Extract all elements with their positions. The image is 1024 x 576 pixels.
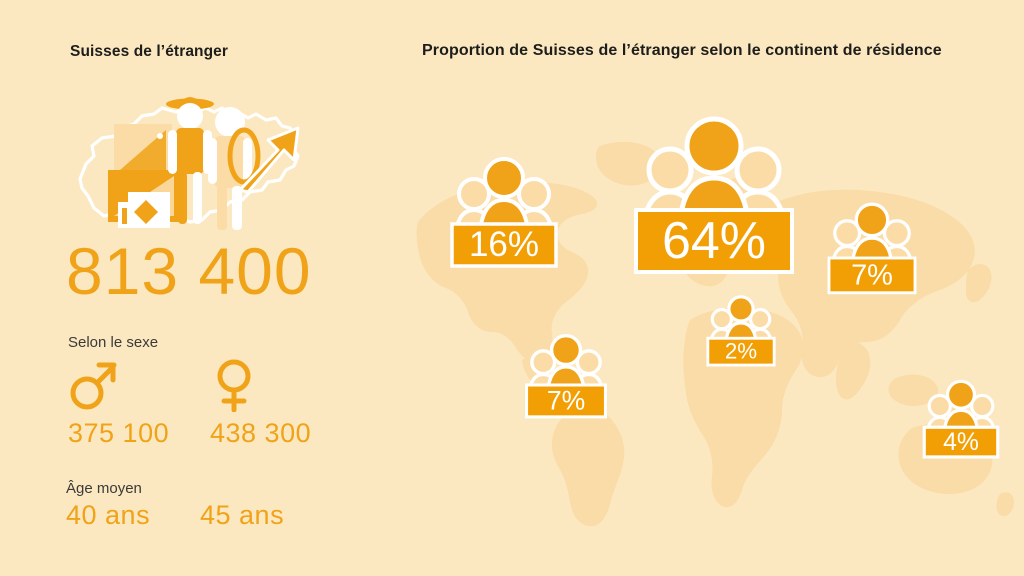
marker-label-south-america: 7%	[547, 385, 585, 415]
left-summary-panel: Suisses de l’étranger	[0, 0, 400, 576]
map-marker-south-america[interactable]: 7%	[522, 330, 610, 418]
total-expats-number: 813 400	[66, 238, 312, 304]
left-panel-title: Suisses de l’étranger	[70, 43, 228, 61]
sex-section-label: Selon le sexe	[68, 334, 158, 351]
map-marker-europe[interactable]: 64%	[628, 108, 800, 276]
swiss-expats-illustration	[72, 84, 322, 234]
male-average-age: 40 ans	[66, 500, 150, 531]
marker-label-north-america: 16%	[469, 225, 539, 264]
marker-label-oceania: 4%	[943, 429, 979, 456]
map-marker-africa[interactable]: 2%	[704, 292, 778, 366]
female-count: 438 300	[210, 418, 311, 449]
sex-entry-female: 438 300	[210, 356, 311, 449]
male-symbol-icon	[68, 356, 120, 412]
map-markers-layer: 16% 64%	[400, 0, 1024, 576]
marker-label-africa: 2%	[725, 339, 757, 364]
map-panel: Proportion de Suisses de l’étranger selo…	[400, 0, 1024, 576]
map-marker-asia[interactable]: 7%	[824, 198, 920, 294]
marker-label-asia: 7%	[851, 259, 893, 291]
sex-entry-male: 375 100	[68, 356, 169, 449]
marker-label-europe: 64%	[662, 212, 766, 270]
map-marker-oceania[interactable]: 4%	[920, 376, 1002, 458]
map-marker-north-america[interactable]: 16%	[446, 152, 562, 267]
male-count: 375 100	[68, 418, 169, 449]
age-section-label: Âge moyen	[66, 480, 142, 497]
infographic-canvas: Suisses de l’étranger	[0, 0, 1024, 576]
female-symbol-icon	[210, 356, 262, 412]
female-average-age: 45 ans	[200, 500, 284, 531]
